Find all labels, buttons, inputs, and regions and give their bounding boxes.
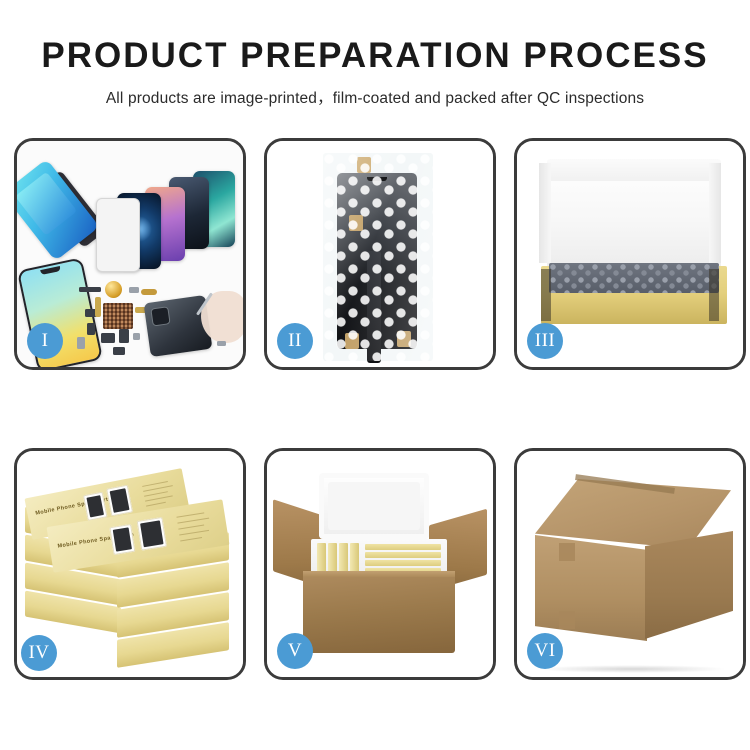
product-window <box>109 524 135 555</box>
small-part-icon <box>133 333 140 340</box>
step-5-illustration: V <box>267 451 493 677</box>
step-panel-2: II <box>264 138 496 370</box>
spec-line <box>176 512 204 517</box>
product-image <box>86 495 104 517</box>
small-part-icon <box>129 287 139 293</box>
box-flap-left <box>541 269 551 321</box>
packed-box <box>365 544 441 550</box>
spec-line <box>179 530 209 536</box>
plastic-gloss <box>323 153 433 361</box>
small-part-icon <box>141 289 157 295</box>
step-panel-4: Mobile Phone Spare Parts <box>14 448 246 680</box>
bubble-wrap-bag <box>323 153 433 361</box>
header: PRODUCT PREPARATION PROCESS All products… <box>0 0 750 108</box>
logic-board-icon <box>103 303 133 329</box>
page-subtitle: All products are image-printed，film-coat… <box>0 86 750 108</box>
page-title: PRODUCT PREPARATION PROCESS <box>0 38 750 75</box>
step-1-illustration: I <box>17 141 243 367</box>
grey-foam-insert <box>549 263 719 293</box>
product-window <box>106 485 133 517</box>
small-part-icon <box>79 287 101 292</box>
small-part-icon <box>87 323 95 335</box>
foam-lid <box>319 473 429 539</box>
drop-shadow <box>537 665 727 673</box>
step-panel-3: III <box>514 138 746 370</box>
step-badge-3: III <box>527 323 563 359</box>
carton-front-face <box>535 535 647 641</box>
small-part-icon <box>119 329 129 343</box>
step-6-illustration: VI <box>517 451 743 677</box>
step-badge-4: IV <box>21 635 57 671</box>
white-foam-lid <box>547 159 721 271</box>
step-panel-5: V <box>264 448 496 680</box>
process-steps-grid: I II <box>14 138 736 680</box>
screw-icon <box>217 341 226 346</box>
step-4-illustration: Mobile Phone Spare Parts <box>17 451 243 677</box>
vibration-motor-icon <box>105 281 122 298</box>
step-2-illustration: II <box>267 141 493 367</box>
step-panel-1: I <box>14 138 246 370</box>
carton-flap-seam <box>559 543 575 561</box>
box-stack: Mobile Phone Spare Parts <box>19 469 235 665</box>
foam-side-left <box>539 163 551 263</box>
step-3-illustration: III <box>517 141 743 367</box>
product-image <box>113 527 132 551</box>
step-badge-1: I <box>27 323 63 359</box>
notch-icon <box>40 266 61 275</box>
spec-line <box>178 525 204 530</box>
flex-cable-icon <box>95 297 101 317</box>
box-flap-right <box>709 269 719 321</box>
small-part-icon <box>101 333 115 343</box>
product-window <box>137 517 167 551</box>
step-badge-2: II <box>277 323 313 359</box>
product-window <box>83 492 108 521</box>
spec-line <box>143 485 173 492</box>
spec-line <box>180 537 202 541</box>
spec-line <box>177 518 209 524</box>
small-part-icon <box>113 347 125 355</box>
step-panel-6: VI <box>514 448 746 680</box>
packed-box <box>365 560 441 566</box>
small-part-icon <box>77 337 85 349</box>
step-badge-5: V <box>277 633 313 669</box>
spec-line <box>145 495 173 501</box>
foam-side-right <box>709 163 721 263</box>
product-image <box>140 520 164 547</box>
product-image <box>110 488 130 513</box>
glass-panel-icon <box>96 198 140 272</box>
product-preparation-infographic: PRODUCT PREPARATION PROCESS All products… <box>0 0 750 750</box>
carton-body <box>303 577 455 653</box>
carton-flap-seam <box>559 611 575 629</box>
packed-box <box>365 552 441 558</box>
spec-line <box>146 502 166 507</box>
step-badge-6: VI <box>527 633 563 669</box>
